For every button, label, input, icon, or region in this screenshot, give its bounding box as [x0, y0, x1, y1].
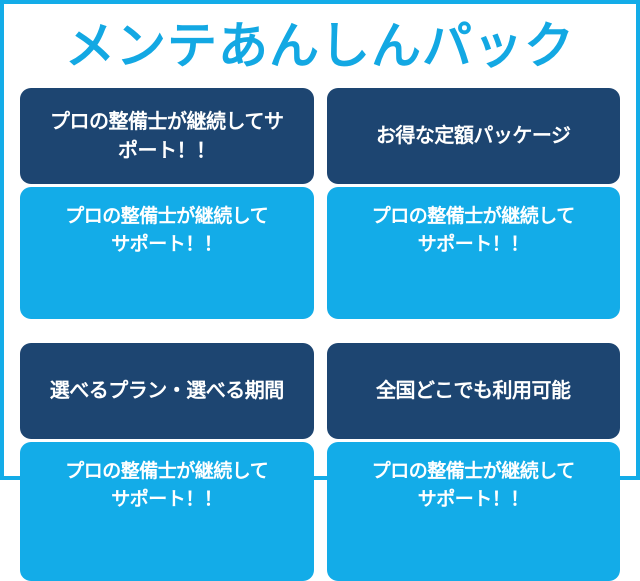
- card-header-pro-mechanic-support: プロの整備士が継続してサ ポート！！: [20, 88, 314, 184]
- feature-card-nationwide-availability: 全国どこでも利用可能 プロの整備士が継続して サポート！！: [327, 343, 621, 581]
- card-header-line: 全国どこでも利用可能: [376, 376, 570, 404]
- card-body-line: プロの整備士が継続して: [65, 458, 268, 486]
- card-header-line: お得な定額パッケージ: [376, 121, 571, 149]
- page-title: メンテあんしんパック: [65, 21, 575, 71]
- card-body-line: サポート！！: [65, 231, 268, 259]
- maintenance-pack-banner: メンテあんしんパック プロの整備士が継続してサ ポート！！ プロの整備士が継続し…: [0, 0, 640, 480]
- card-body-line: サポート！！: [372, 486, 575, 514]
- card-body-flat-rate-package: プロの整備士が継続して サポート！！: [327, 187, 621, 319]
- card-header-selectable-plan-period: 選べるプラン・選べる期間: [20, 343, 314, 439]
- card-body-line: サポート！！: [372, 231, 575, 259]
- feature-card-pro-mechanic-support: プロの整備士が継続してサ ポート！！ プロの整備士が継続して サポート！！: [20, 88, 314, 319]
- feature-card-flat-rate-package: お得な定額パッケージ プロの整備士が継続して サポート！！: [327, 88, 621, 319]
- card-header-line: プロの整備士が継続してサ: [50, 107, 283, 135]
- card-header-line: 選べるプラン・選べる期間: [50, 376, 284, 404]
- feature-card-grid: プロの整備士が継続してサ ポート！！ プロの整備士が継続して サポート！！ お得…: [4, 88, 636, 581]
- card-body-selectable-plan-period: プロの整備士が継続して サポート！！: [20, 442, 314, 581]
- feature-card-selectable-plan-period: 選べるプラン・選べる期間 プロの整備士が継続して サポート！！: [20, 343, 314, 581]
- banner-title-bar: メンテあんしんパック: [4, 4, 636, 88]
- card-body-line: プロの整備士が継続して: [65, 203, 268, 231]
- card-body-line: サポート！！: [65, 486, 268, 514]
- card-body-line: プロの整備士が継続して: [372, 203, 575, 231]
- card-body-line: プロの整備士が継続して: [372, 458, 575, 486]
- card-body-nationwide-availability: プロの整備士が継続して サポート！！: [327, 442, 621, 581]
- card-header-line: ポート！！: [50, 136, 283, 164]
- card-header-flat-rate-package: お得な定額パッケージ: [327, 88, 621, 184]
- card-body-pro-mechanic-support: プロの整備士が継続して サポート！！: [20, 187, 314, 319]
- card-header-nationwide-availability: 全国どこでも利用可能: [327, 343, 621, 439]
